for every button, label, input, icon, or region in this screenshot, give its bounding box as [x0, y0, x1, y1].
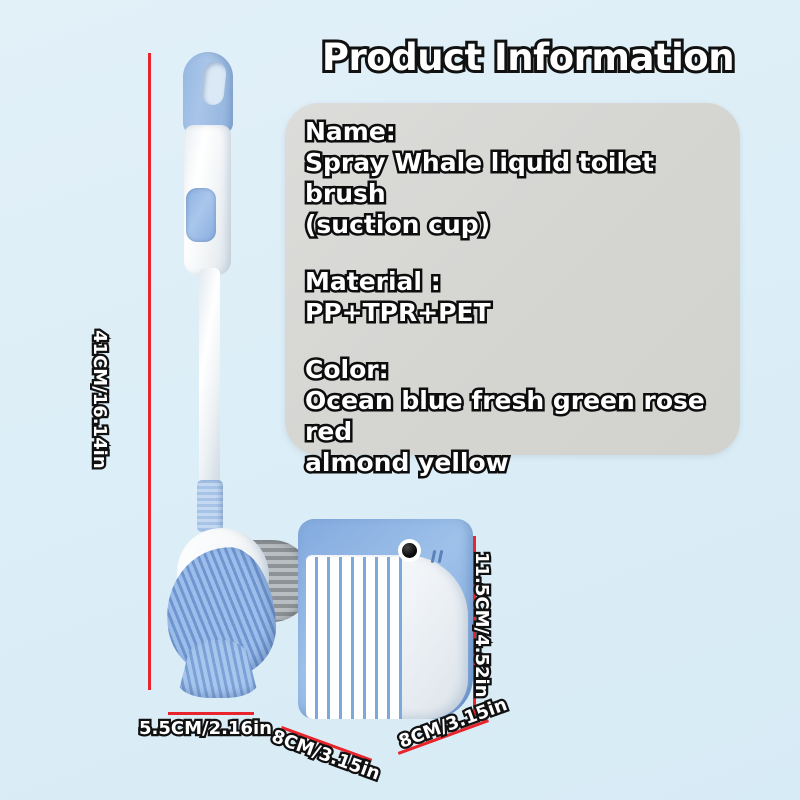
holder-drain-slots	[306, 557, 402, 719]
material-value: PP+TPR+PET	[305, 297, 735, 328]
color-value-line2: almond yellow	[305, 447, 735, 478]
name-label: Name:	[305, 116, 735, 147]
material-label: Material :	[305, 266, 735, 297]
measure-label-holder-height: 11.5CM/4.52in	[471, 552, 492, 698]
measure-line-brush-length	[148, 53, 151, 690]
color-value-line1: Ocean blue fresh green rose red	[305, 385, 735, 447]
holder-body	[298, 519, 473, 719]
holder-whale-eye-icon	[402, 543, 417, 558]
info-card-text: Name: Spray Whale liquid toilet brush (s…	[305, 116, 735, 478]
brush-whale-head	[155, 520, 295, 720]
spacer-2	[305, 328, 735, 354]
brush-dispenser-button	[186, 188, 216, 242]
measure-line-brush-width	[168, 712, 254, 715]
measure-label-brush-length: 41CM/16.14in	[89, 330, 110, 469]
color-label: Color:	[305, 354, 735, 385]
measure-label-brush-width: 5.5CM/2.16in	[139, 718, 272, 739]
product-info-image: Product Information Name: Spray Whale li…	[0, 0, 800, 800]
brush-shaft	[199, 268, 220, 486]
name-value-line2: (suction cup)	[305, 209, 735, 240]
name-value-line1: Spray Whale liquid toilet brush	[305, 147, 735, 209]
page-title: Product Information	[318, 36, 738, 79]
measure-label-holder-depth-left: 8CM/3.15in	[269, 726, 383, 785]
spacer-1	[305, 240, 735, 266]
